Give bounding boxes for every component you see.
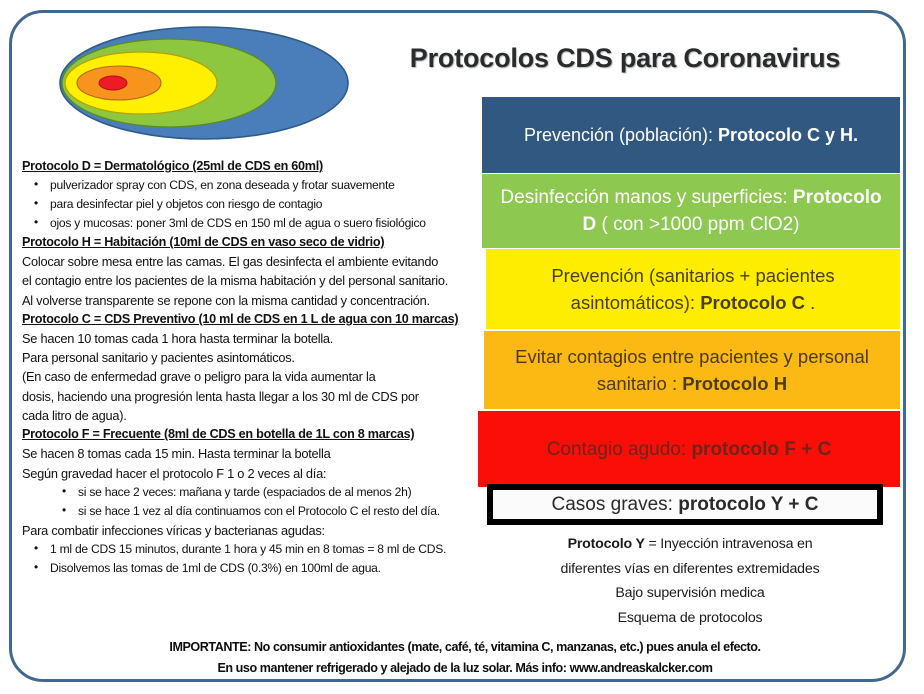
band-yellow-text-bold: Protocolo C [700, 292, 805, 313]
protocol-line: dosis, haciendo una progresión lenta has… [22, 387, 484, 406]
footer-line-1: IMPORTANTE: No consumir antioxidantes (m… [40, 637, 890, 658]
protocol-line: Colocar sobre mesa entre las camas. El g… [22, 252, 484, 271]
protocol-bullet-nested: si se hace 2 veces: mañana y tarde (espa… [22, 483, 484, 502]
poster-root: Protocolos CDS para Coronavirus Protocol… [0, 0, 924, 694]
band-orange-text-bold: Protocolo H [682, 373, 787, 394]
protocol-line: Se hacen 10 tomas cada 1 hora hasta term… [22, 329, 484, 348]
protocol-heading: Protocolo C = CDS Preventivo (10 ml de C… [22, 311, 484, 328]
band-red-text-normal: Contagio agudo: [547, 439, 692, 460]
protocolo-y-note: Protocolo Y = Inyección intravenosa en d… [480, 532, 900, 630]
protocolo-y-desc: = Inyección intravenosa en [645, 536, 813, 552]
concentric-severity-ellipses-diagram [58, 24, 350, 142]
protocol-bullet: Disolvemos las tomas de 1ml de CDS (0.3%… [22, 559, 484, 578]
protocolo-y-label: Protocolo Y [568, 536, 645, 552]
protocol-details-column: Protocolo D = Dermatológico (25ml de CDS… [22, 157, 484, 578]
band-casos-graves: Casos graves: protocolo Y + C [487, 484, 883, 525]
protocol-bullet: 1 ml de CDS 15 minutos, durante 1 hora y… [22, 540, 484, 559]
protocol-line: el contagio entre los pacientes de la mi… [22, 271, 484, 290]
band-red-text-bold: protocolo F + C [691, 439, 831, 460]
band-prevencion-poblacion: Prevención (población): Protocolo C y H. [482, 97, 900, 173]
band-evitar-contagios: Evitar contagios entre pacientes y perso… [484, 331, 900, 409]
band-blue-text-normal: Prevención (población): [524, 125, 718, 145]
band-yellow-text-normal-2: . [805, 292, 815, 313]
protocol-heading: Protocolo H = Habitación (10ml de CDS en… [22, 234, 484, 251]
protocolo-y-note-line-1: Protocolo Y = Inyección intravenosa en [480, 532, 900, 557]
footer-line-2: En uso mantener refrigerado y alejado de… [40, 658, 890, 679]
footer-warning: IMPORTANTE: No consumir antioxidantes (m… [40, 637, 890, 679]
protocolo-y-note-line-2: diferentes vías en diferentes extremidad… [480, 557, 900, 582]
protocolo-y-note-line-4: Esquema de protocolos [480, 606, 900, 631]
protocol-bullet: ojos y mucosas: poner 3ml de CDS en 150 … [22, 214, 484, 233]
band-contagio-agudo: Contagio agudo: protocolo F + C [478, 411, 900, 487]
protocol-heading: Protocolo F = Frecuente (8ml de CDS en b… [22, 426, 484, 443]
band-white-text-bold: protocolo Y + C [678, 494, 818, 515]
protocol-line: Para combatir infecciones víricas y bact… [22, 521, 484, 540]
band-white-text-normal: Casos graves: [552, 494, 679, 515]
protocol-bullet: pulverizador spray con CDS, en zona dese… [22, 176, 484, 195]
protocol-bullet: para desinfectar piel y objetos con ries… [22, 195, 484, 214]
band-prevencion-sanitarios-pacientes: Prevención (sanitarios + pacientes asint… [486, 249, 900, 329]
protocol-line: Al volverse transparente se repone con l… [22, 291, 484, 310]
protocol-line: (En caso de enfermedad grave o peligro p… [22, 367, 484, 386]
band-desinfeccion-manos-superficies: Desinfección manos y superficies: Protoc… [482, 174, 900, 248]
band-green-text-normal: Desinfección manos y superficies: [500, 187, 793, 208]
band-blue-text-bold: Protocolo C y H. [718, 125, 858, 145]
band-green-text-normal-2: ( con >1000 ppm ClO2) [596, 214, 799, 235]
protocol-line: cada litro de agua). [22, 406, 484, 425]
protocol-line: Según gravedad hacer el protocolo F 1 o … [22, 464, 484, 483]
protocol-bullet-nested: si se hace 1 vez al día continuamos con … [22, 502, 484, 521]
page-title: Protocolos CDS para Coronavirus [355, 43, 895, 74]
protocol-line: Para personal sanitario y pacientes asin… [22, 348, 484, 367]
protocolo-y-note-line-3: Bajo supervisión medica [480, 581, 900, 606]
protocol-line: Se hacen 8 tomas cada 15 min. Hasta term… [22, 444, 484, 463]
ellipse-core-red-icon [99, 76, 127, 90]
protocol-heading: Protocolo D = Dermatológico (25ml de CDS… [22, 158, 484, 175]
